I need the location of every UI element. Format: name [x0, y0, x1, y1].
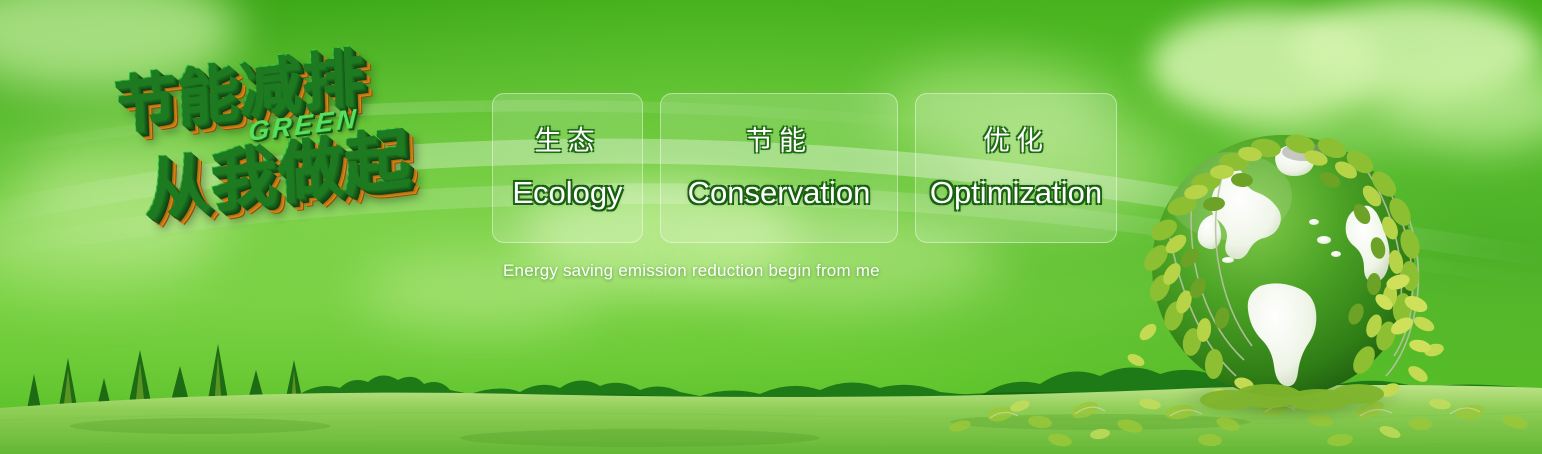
cloud-icon: [0, 190, 220, 290]
title-accent-green: GREEN: [248, 103, 360, 148]
cloud-icon: [1290, 0, 1540, 100]
feature-card-en-label: Optimization: [930, 177, 1102, 208]
cloud-icon: [20, 130, 250, 240]
feature-card-cn-label: 节能: [746, 128, 812, 155]
feature-card-en-label: Conservation: [688, 177, 871, 208]
right-falling-leaves: [1368, 268, 1488, 388]
feature-card-optimization[interactable]: 优化 Optimization: [915, 93, 1117, 243]
banner-tagline: Energy saving emission reduction begin f…: [503, 261, 880, 281]
eco-banner: 节能减排 GREEN 从我做起 生态 Ecology 节能 Conservati…: [0, 0, 1542, 454]
cloud-icon: [1150, 10, 1380, 120]
title-line-1: 节能减排: [111, 24, 364, 145]
feature-card-conservation[interactable]: 节能 Conservation: [660, 93, 898, 243]
feature-card-cn-label: 优化: [983, 128, 1049, 155]
globe-base-leaves: [1200, 384, 1384, 411]
feature-card-list: 生态 Ecology 节能 Conservation 优化 Optimizati…: [492, 93, 1117, 243]
title-line-2: 从我做起: [141, 104, 410, 233]
cloud-icon: [0, 0, 240, 90]
feature-card-cn-label: 生态: [535, 128, 601, 155]
title-3d-artwork: 节能减排 GREEN 从我做起: [96, 36, 496, 266]
feature-card-ecology[interactable]: 生态 Ecology: [492, 93, 643, 243]
feature-card-en-label: Ecology: [512, 177, 622, 208]
